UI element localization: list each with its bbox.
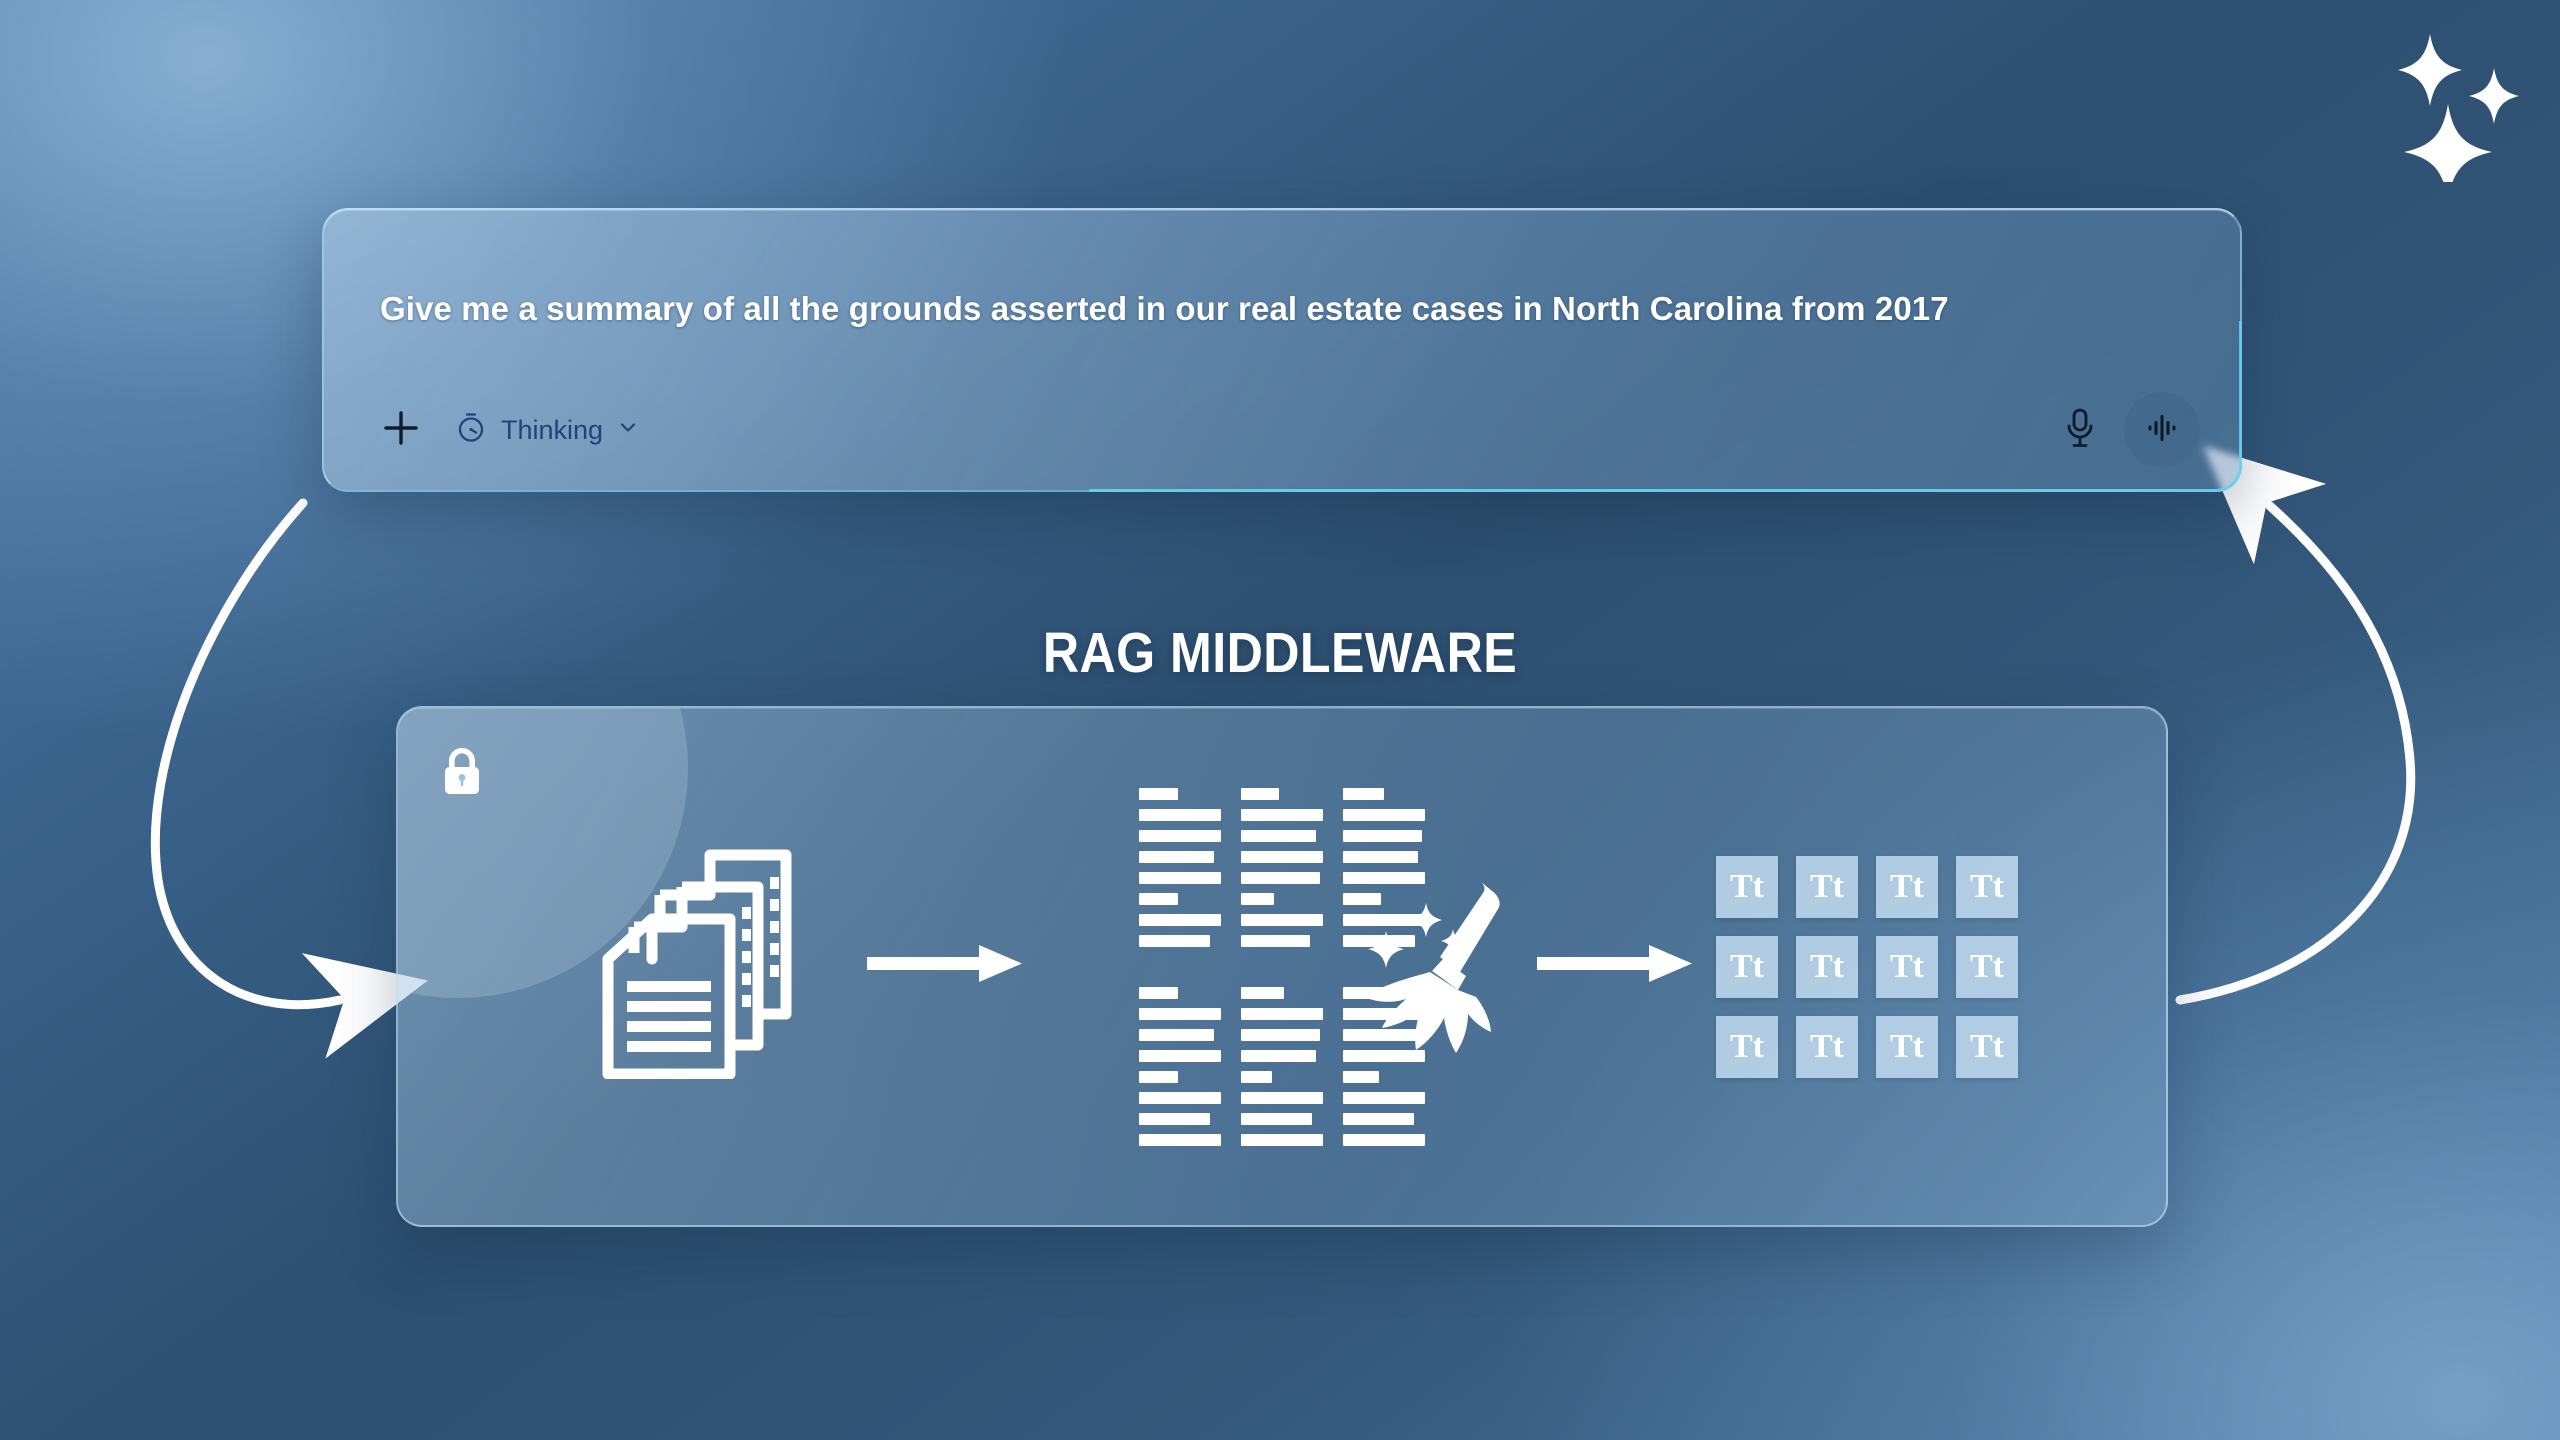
text-block-gap <box>1139 956 1221 978</box>
pipeline-arrow-2 <box>1532 941 1702 992</box>
token-tile: Tt <box>1796 1016 1858 1078</box>
text-line <box>1139 935 1210 947</box>
mode-selector-thinking[interactable]: Thinking <box>454 410 640 451</box>
text-line <box>1139 809 1221 821</box>
text-line <box>1241 893 1274 905</box>
text-line <box>1139 893 1178 905</box>
text-line <box>1343 1113 1414 1125</box>
text-line <box>1241 1050 1316 1062</box>
token-grid: TtTtTtTtTtTtTtTtTtTtTtTt <box>1716 856 2018 1078</box>
token-tile: Tt <box>1716 856 1778 918</box>
page-title: RAG MIDDLEWARE <box>154 620 2407 686</box>
text-line <box>1139 830 1221 842</box>
token-tile: Tt <box>1956 1016 2018 1078</box>
stopwatch-icon <box>454 410 488 451</box>
text-line <box>1241 987 1284 999</box>
pipeline-stage-ingest <box>532 849 862 1084</box>
text-line <box>1241 1113 1312 1125</box>
pipeline-stage-clean <box>1032 788 1532 1146</box>
text-line <box>1343 788 1384 800</box>
loop-arrow-back-to-prompt <box>2180 506 2411 1000</box>
text-line <box>1139 1134 1221 1146</box>
text-block-gap <box>1241 956 1323 978</box>
voice-mode-button[interactable] <box>2124 392 2200 468</box>
text-line <box>1139 987 1178 999</box>
text-line <box>1139 1029 1214 1041</box>
plus-icon <box>381 408 421 453</box>
text-lines-column <box>1241 788 1323 1146</box>
add-attachment-button[interactable] <box>378 407 424 453</box>
text-line <box>1241 830 1316 842</box>
text-line <box>1139 851 1214 863</box>
text-line <box>1241 851 1323 863</box>
token-tile: Tt <box>1796 936 1858 998</box>
text-line <box>1343 830 1422 842</box>
documents-stack-icon <box>582 849 812 1084</box>
text-line <box>1139 1008 1221 1020</box>
composer-toolbar: Thinking <box>324 370 2240 490</box>
text-line <box>1241 914 1323 926</box>
text-lines-column <box>1139 788 1221 1146</box>
text-line <box>1139 914 1221 926</box>
text-line <box>1343 851 1418 863</box>
text-line <box>1343 1134 1425 1146</box>
text-line <box>1241 1008 1323 1020</box>
text-line <box>1241 1134 1323 1146</box>
token-tile: Tt <box>1956 856 2018 918</box>
text-line <box>1241 1092 1323 1104</box>
token-tile: Tt <box>1716 936 1778 998</box>
broom-sparkle-icon <box>1340 875 1510 1075</box>
token-tile: Tt <box>1796 856 1858 918</box>
pipeline-stage-tokenize: TtTtTtTtTtTtTtTtTtTtTtTt <box>1702 856 2032 1078</box>
canvas: Give me a summary of all the grounds ass… <box>0 0 2560 1440</box>
text-line <box>1241 1071 1272 1083</box>
pipeline-arrow-1 <box>862 941 1032 992</box>
lock-icon <box>436 744 488 800</box>
prompt-composer-card[interactable]: Give me a summary of all the grounds ass… <box>322 208 2242 492</box>
rag-pipeline: TtTtTtTtTtTtTtTtTtTtTtTt <box>398 708 2166 1225</box>
text-line <box>1139 1050 1221 1062</box>
token-tile: Tt <box>1716 1016 1778 1078</box>
text-line <box>1241 935 1310 947</box>
text-line <box>1139 1092 1221 1104</box>
sparkles-icon <box>2382 22 2552 182</box>
token-tile: Tt <box>1956 936 2018 998</box>
text-line <box>1241 1029 1320 1041</box>
text-line <box>1139 788 1178 800</box>
text-line <box>1139 872 1221 884</box>
token-tile: Tt <box>1876 936 1938 998</box>
mode-label: Thinking <box>501 415 603 446</box>
text-line <box>1139 1071 1178 1083</box>
prompt-input[interactable]: Give me a summary of all the grounds ass… <box>380 290 2180 328</box>
text-line <box>1241 809 1323 821</box>
microphone-icon <box>2060 406 2100 455</box>
token-tile: Tt <box>1876 1016 1938 1078</box>
chevron-down-icon[interactable] <box>616 415 640 446</box>
loop-arrow-into-middleware <box>155 503 340 1005</box>
voice-waveform-icon <box>2142 408 2182 453</box>
microphone-button[interactable] <box>2054 404 2106 456</box>
text-line <box>1139 1113 1210 1125</box>
text-line <box>1241 788 1279 800</box>
rag-middleware-panel: TtTtTtTtTtTtTtTtTtTtTtTt <box>396 706 2168 1227</box>
text-line <box>1241 872 1320 884</box>
arrow-right-icon <box>867 941 1027 992</box>
text-line <box>1343 1092 1425 1104</box>
text-line <box>1343 809 1425 821</box>
token-tile: Tt <box>1876 856 1938 918</box>
arrow-right-icon <box>1537 941 1697 992</box>
